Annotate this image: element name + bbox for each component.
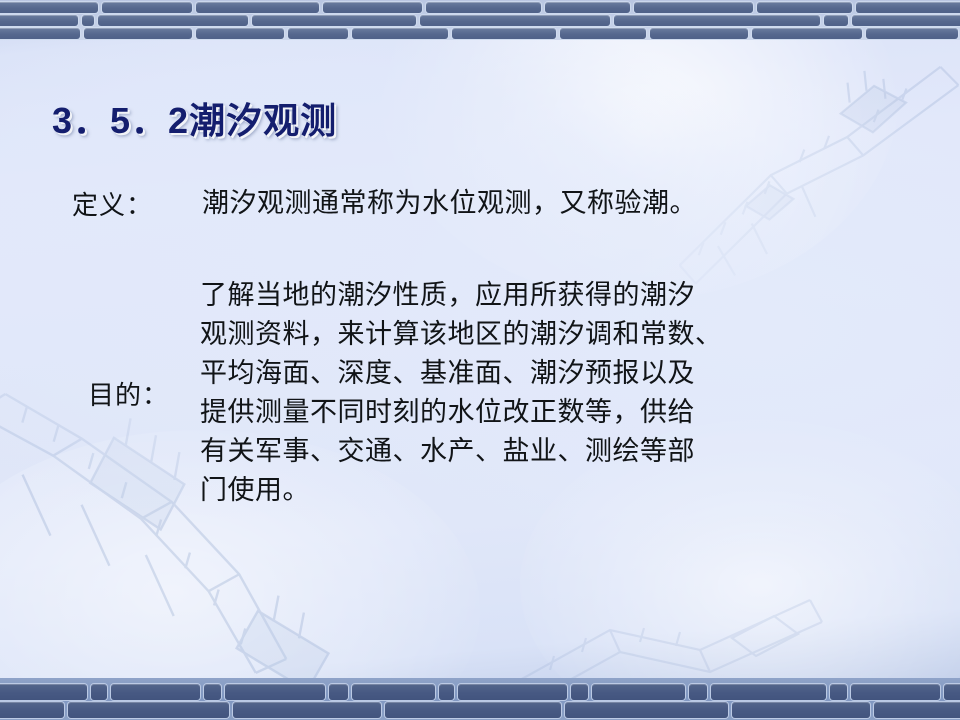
page-title: 3．5．2潮汐观测 <box>52 92 337 144</box>
slide-canvas: 3．5．2潮汐观测 定义： 潮汐观测通常称为水位观测，又称验潮。 目的： 了解当… <box>0 0 960 720</box>
purpose-label: 目的： <box>88 375 200 412</box>
definition-label: 定义： <box>72 185 202 222</box>
definition-text: 潮汐观测通常称为水位观测，又称验潮。 <box>202 184 697 222</box>
purpose-row: 目的： 了解当地的潮汐性质，应用所获得的潮汐 观测资料，来计算该地区的潮汐调和常… <box>88 276 723 510</box>
purpose-text: 了解当地的潮汐性质，应用所获得的潮汐 观测资料，来计算该地区的潮汐调和常数、 平… <box>200 276 723 510</box>
definition-row: 定义： 潮汐观测通常称为水位观测，又称验潮。 <box>72 184 697 222</box>
slide-content: 3．5．2潮汐观测 定义： 潮汐观测通常称为水位观测，又称验潮。 目的： 了解当… <box>0 0 960 720</box>
